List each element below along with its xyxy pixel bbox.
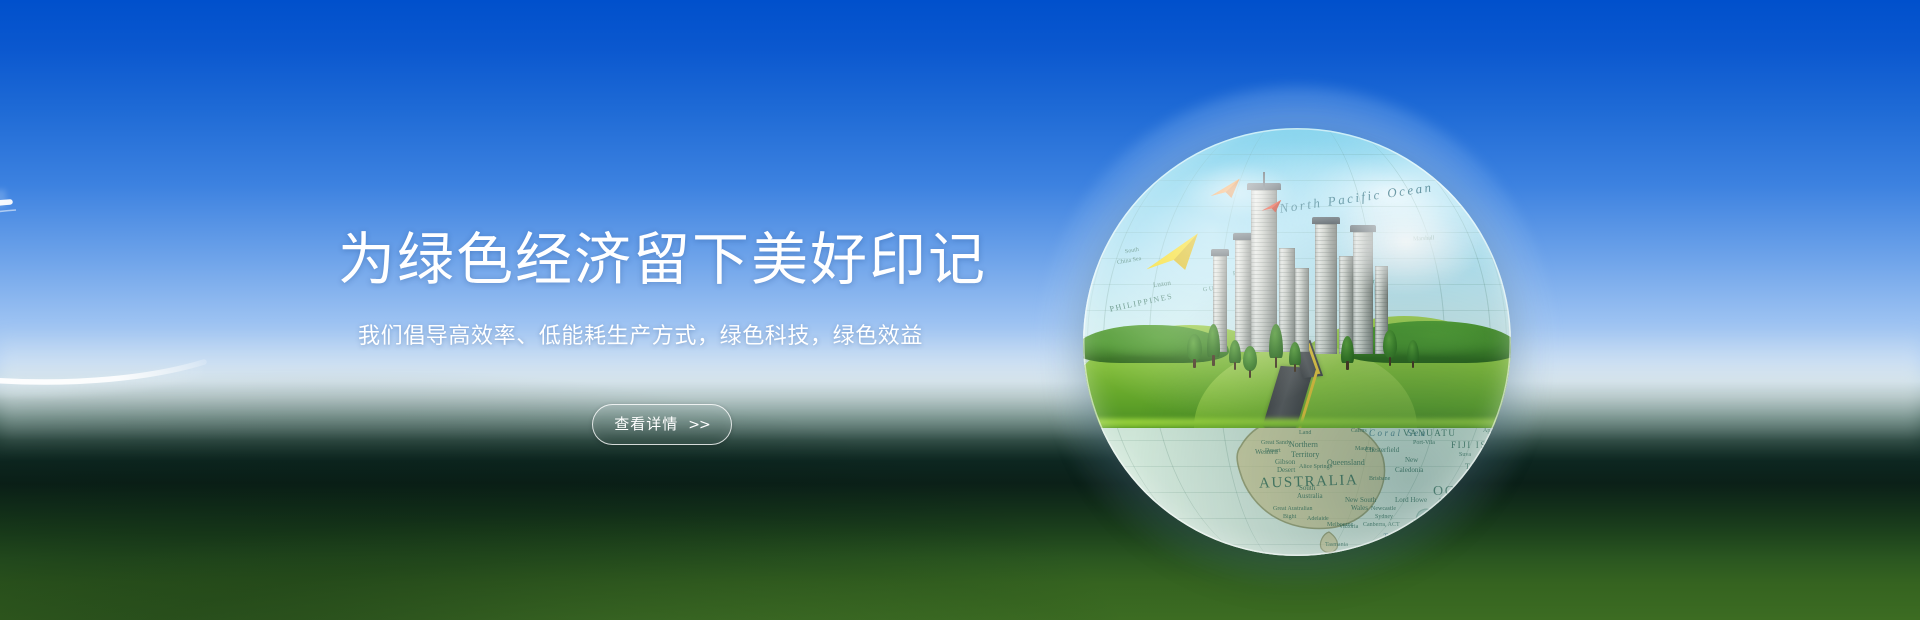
view-details-label: 查看详情: [614, 417, 678, 432]
globe-sphere: North Pacific OceanWake IslandMarshallPH…: [1083, 128, 1511, 556]
banner-subheadline: 我们倡导高效率、低能耗生产方式，绿色科技，绿色效益: [358, 325, 1038, 347]
globe-specular-highlight-two: [1177, 162, 1297, 220]
tree: [1207, 324, 1220, 366]
skyscraper: [1235, 240, 1252, 352]
tree: [1243, 346, 1257, 378]
tree: [1341, 336, 1354, 370]
globe-specular-highlight: [1331, 188, 1481, 296]
tree: [1289, 342, 1301, 372]
banner-headline: 为绿色经济留下美好印记: [338, 232, 1038, 289]
land-bottom-edge: [1083, 416, 1511, 428]
tree: [1383, 330, 1397, 366]
skyscraper: [1295, 268, 1309, 352]
tree: [1229, 340, 1241, 370]
globe-illustration: North Pacific OceanWake IslandMarshallPH…: [1083, 128, 1511, 556]
banner-copy: 为绿色经济留下美好印记 我们倡导高效率、低能耗生产方式，绿色科技，绿色效益: [338, 232, 1038, 347]
hero-banner: North Pacific OceanWake IslandMarshallPH…: [0, 0, 1920, 620]
view-details-button[interactable]: 查看详情 >>: [592, 404, 732, 445]
tree: [1407, 340, 1419, 368]
ground-glow: [0, 410, 1920, 620]
double-chevron-right-icon: >>: [688, 418, 709, 432]
tree: [1269, 324, 1283, 368]
tree: [1187, 334, 1202, 368]
